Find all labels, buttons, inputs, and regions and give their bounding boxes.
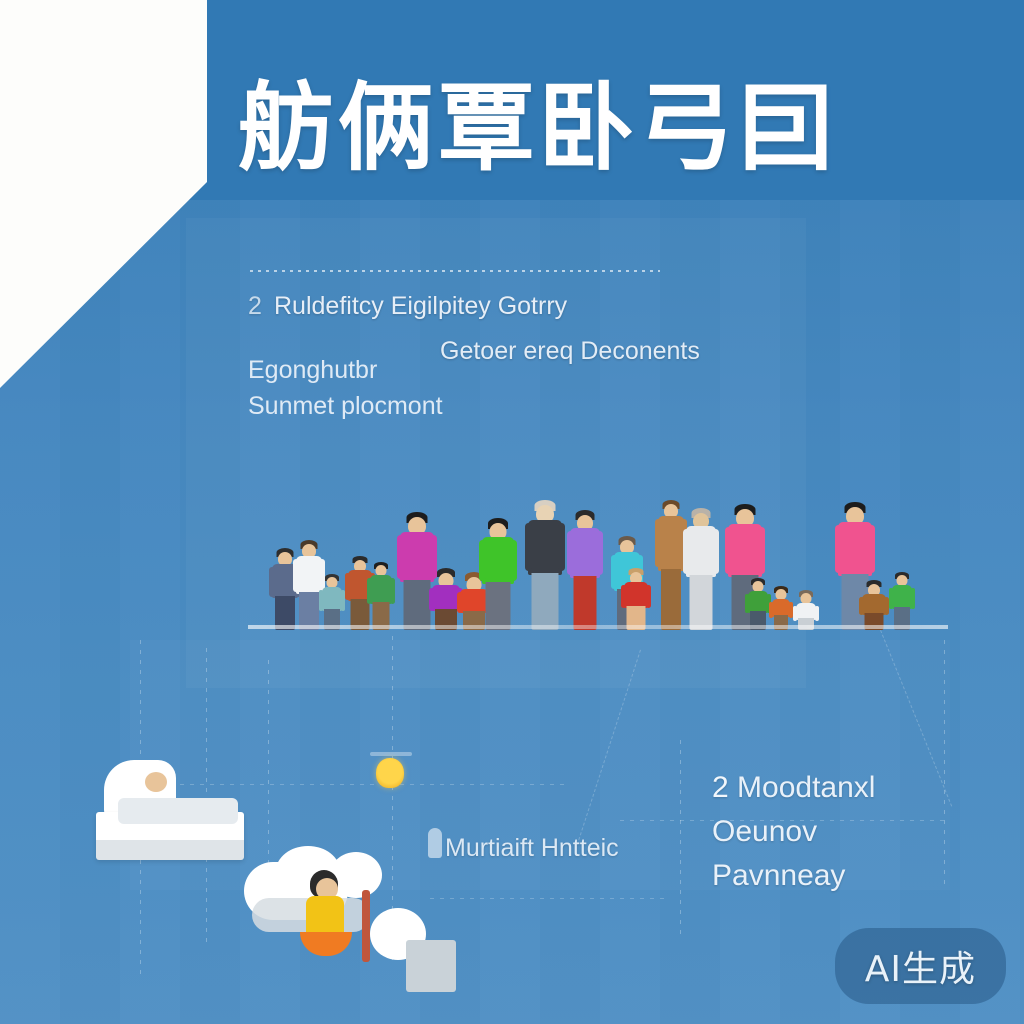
figure-arm-right [596, 531, 603, 575]
figure-arm-left [429, 588, 435, 611]
person-lilac-top [570, 510, 600, 630]
bullet-number: 2 [248, 292, 274, 321]
seated-person-base [300, 932, 352, 956]
figure-torso [370, 575, 392, 604]
figure-arm-left [621, 585, 626, 608]
figure-torso [400, 532, 434, 582]
figure-arm-right [712, 529, 719, 574]
person-purple-bag [432, 568, 460, 630]
person-orange-small [772, 586, 790, 630]
figure-torso [528, 520, 562, 575]
figure-arm-left [367, 578, 372, 604]
person-dark-jacket [528, 500, 562, 630]
figure-arm-left [611, 555, 617, 589]
figure-arm-right [558, 523, 565, 571]
secondary-caption: Getoer ereq Deconents [440, 337, 700, 366]
small-white-marker [428, 828, 442, 858]
guide-line-horizontal [150, 784, 570, 785]
figure-arm-left [319, 590, 323, 611]
figure-legs [574, 576, 597, 630]
bottom-right-text-2: Oeunov [712, 810, 875, 854]
figure-arm-left [793, 606, 797, 621]
bullet-heading-text: Ruldefitcy Eigilpitey Gotrry [274, 292, 567, 320]
figure-arm-right [390, 578, 395, 604]
figure-legs [404, 580, 431, 630]
figure-arm-left [769, 602, 773, 618]
figure-torso [432, 585, 460, 611]
sub-caption-a: Egonghutbr [248, 356, 377, 385]
person-white-shirt [296, 540, 322, 630]
figure-arm-left [345, 573, 350, 600]
bottom-right-text-3: Pavnneay [712, 854, 875, 898]
person-magenta-shirt [400, 512, 434, 630]
figure-torso [624, 582, 648, 608]
figure-torso [892, 585, 912, 609]
person-green-skirt [370, 562, 392, 630]
figure-arm-left [655, 519, 661, 567]
person-green-right [892, 572, 912, 630]
ai-generated-watermark: AI生成 [835, 928, 1006, 1004]
bottom-middle-caption: Murtiaift Hntteic [445, 834, 619, 863]
bottom-right-text-1: Moodtanxl [737, 771, 875, 804]
figure-arm-right [646, 585, 651, 608]
corner-wedge-decoration [0, 0, 215, 390]
gray-square-block [406, 940, 456, 992]
figure-torso [728, 524, 762, 577]
figure-torso [322, 587, 342, 611]
poster-canvas: 舫俩覃卧弓囙 2Ruldefitcy Eigilpitey Gotrry Get… [0, 0, 1024, 1024]
figure-arm-right [815, 606, 819, 621]
figure-arm-left [567, 531, 574, 575]
ground-baseline [248, 625, 948, 629]
bottom-right-line-1: 2 Moodtanxl [712, 766, 875, 810]
figure-arm-left [745, 594, 749, 613]
figure-legs [661, 569, 681, 630]
figure-arm-right [911, 588, 915, 609]
person-white-box [796, 590, 816, 630]
figure-arm-right [758, 527, 765, 574]
figure-arm-left [479, 540, 486, 581]
figure-arm-right [868, 525, 875, 573]
bullet-heading-row: 2Ruldefitcy Eigilpitey Gotrry [248, 292, 567, 321]
sun-icon [376, 758, 404, 788]
figure-legs [532, 573, 559, 630]
figure-torso [838, 522, 872, 576]
figure-arm-left [835, 525, 842, 573]
figure-arm-left [525, 523, 532, 571]
red-pole [362, 890, 370, 962]
person-green-hoodie [482, 518, 514, 630]
figure-arm-right [510, 540, 517, 581]
person-brown-seated [862, 580, 886, 630]
figure-arm-left [859, 597, 864, 615]
bed-blanket [118, 798, 238, 824]
figure-arm-left [683, 529, 690, 574]
person-red-dress [624, 568, 648, 630]
figure-torso [862, 594, 886, 615]
guide-line-horizontal [430, 898, 670, 899]
figure-arm-left [397, 535, 404, 579]
patient-head [145, 772, 167, 792]
person-beige-column [658, 500, 684, 630]
bottom-right-block: 2 Moodtanxl Oeunov Pavnneay [712, 766, 875, 898]
figure-arm-left [457, 592, 463, 613]
guide-line-vertical [944, 640, 945, 890]
figure-arm-left [889, 588, 893, 609]
poster-title: 舫俩覃卧弓囙 [238, 68, 858, 188]
crowd-illustration [0, 455, 1024, 630]
figure-legs [486, 582, 511, 630]
bottom-right-number: 2 [712, 771, 729, 804]
dotted-separator [250, 270, 660, 272]
figure-arm-left [725, 527, 732, 574]
sun-icon-bar [370, 752, 412, 756]
person-child-teal [322, 574, 342, 630]
person-green-kid [748, 578, 768, 630]
sub-caption-b: Sunmet plocmont [248, 392, 443, 421]
figure-arm-left [269, 567, 275, 597]
figure-torso [748, 591, 768, 613]
figure-legs [690, 575, 713, 630]
figure-arm-left [293, 559, 299, 592]
person-white-robe [686, 508, 716, 630]
guide-line-vertical [680, 740, 681, 940]
